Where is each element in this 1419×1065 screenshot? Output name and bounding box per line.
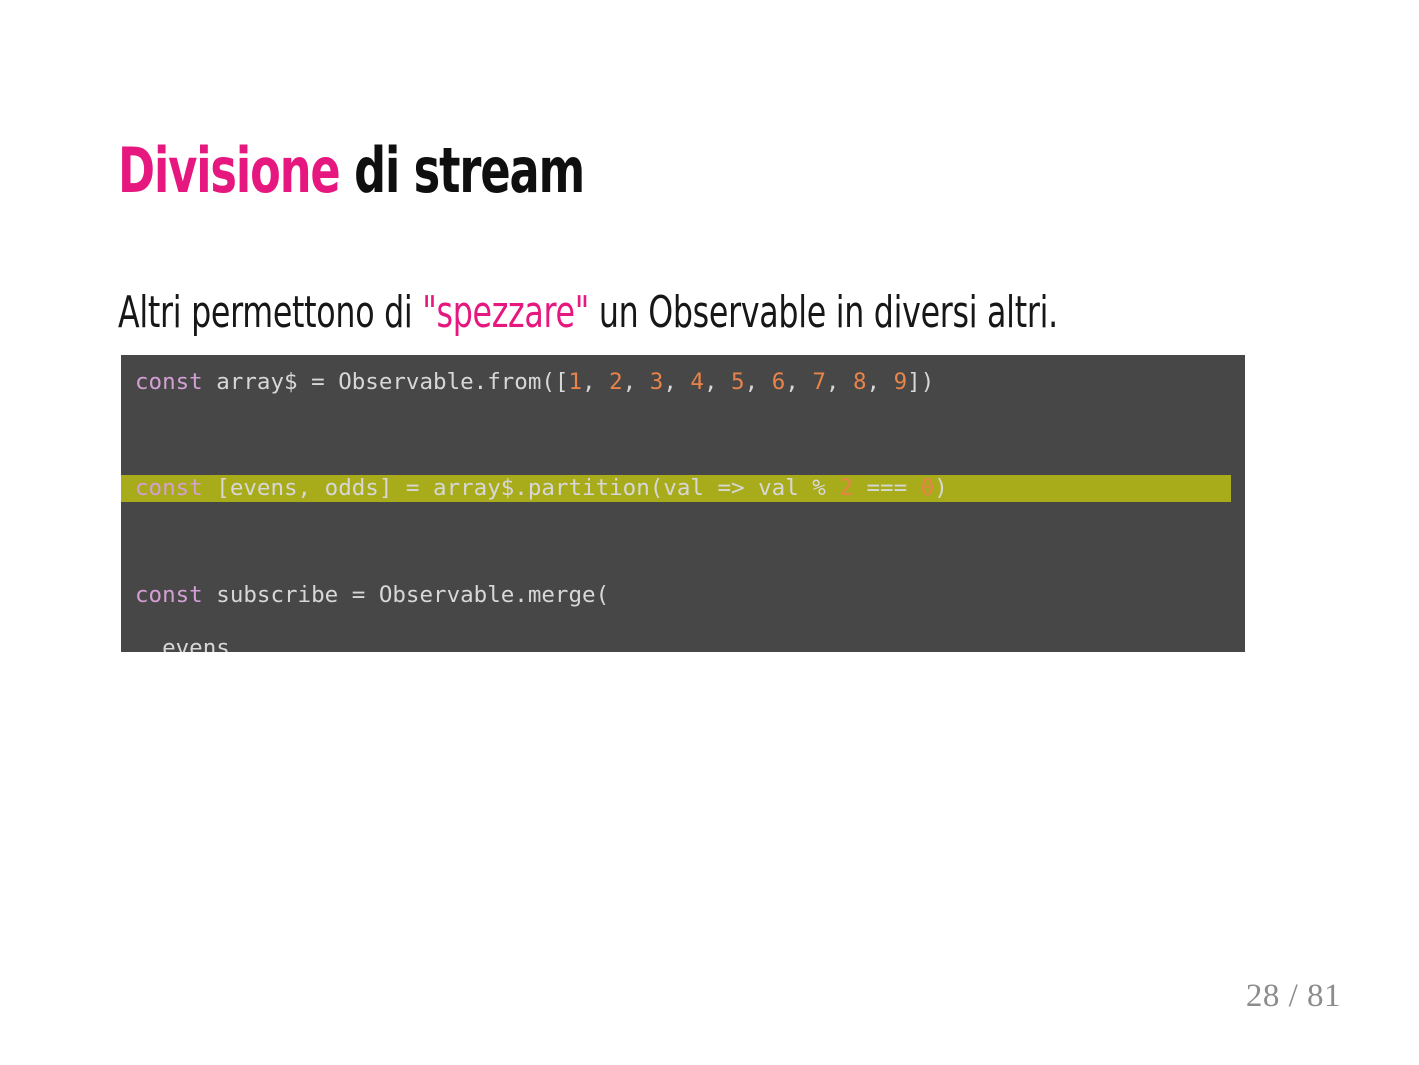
code-line: const subscribe = Observable.merge( (121, 582, 1245, 609)
code-token-plain: , (745, 369, 772, 395)
code-token-number: 1 (568, 369, 582, 395)
code-line (121, 422, 1245, 449)
code-token-plain: evens (135, 635, 230, 652)
code-token-keyword: const (135, 369, 203, 395)
code-token-number: 5 (731, 369, 745, 395)
code-line (121, 529, 1245, 556)
code-token-plain: [evens, odds] = array$.partition(val => … (203, 475, 840, 501)
code-line: evens (121, 635, 1245, 652)
code-token-plain: , (704, 369, 731, 395)
code-block: const array$ = Observable.from([1, 2, 3,… (121, 355, 1245, 652)
code-root: const array$ = Observable.from([1, 2, 3,… (121, 369, 1245, 652)
lead-text-before: Altri permettono di (118, 287, 422, 338)
code-token-plain: , (785, 369, 812, 395)
code-token-plain: , (867, 369, 894, 395)
code-token-plain: array$ = Observable.from([ (203, 369, 569, 395)
code-line-highlighted: const [evens, odds] = array$.partition(v… (121, 475, 1231, 502)
lead-text-accent: "spezzare" (422, 287, 589, 338)
slide-root: Divisione di stream Altri permettono di … (0, 0, 1419, 1065)
code-line: const array$ = Observable.from([1, 2, 3,… (121, 369, 1245, 396)
code-token-plain: subscribe = Observable.merge( (203, 582, 609, 608)
code-token-number: 8 (853, 369, 867, 395)
code-token-number: 9 (894, 369, 908, 395)
code-token-number: 2 (609, 369, 623, 395)
code-token-number: 2 (839, 475, 853, 501)
code-token-plain: ) (934, 475, 948, 501)
code-token-number: 3 (650, 369, 664, 395)
code-token-keyword: const (135, 475, 203, 501)
code-token-number: 4 (690, 369, 704, 395)
page-number: 28 / 81 (1246, 978, 1341, 1015)
code-token-number: 0 (921, 475, 935, 501)
code-listing: const array$ = Observable.from([1, 2, 3,… (121, 369, 1245, 652)
code-token-number: 7 (812, 369, 826, 395)
page-title: Divisione di stream (118, 138, 584, 203)
page-title-rest: di stream (340, 134, 584, 207)
code-token-plain: === (853, 475, 921, 501)
lead-paragraph: Altri permettono di "spezzare" un Observ… (118, 287, 1058, 338)
code-token-plain: , (582, 369, 609, 395)
code-token-plain: , (663, 369, 690, 395)
code-token-plain: , (623, 369, 650, 395)
lead-text-after: un Observable in diversi altri. (589, 287, 1058, 338)
code-token-plain: , (826, 369, 853, 395)
code-token-keyword: const (135, 582, 203, 608)
code-token-number: 6 (772, 369, 786, 395)
page-title-accent: Divisione (118, 134, 340, 207)
code-token-plain: ]) (907, 369, 934, 395)
